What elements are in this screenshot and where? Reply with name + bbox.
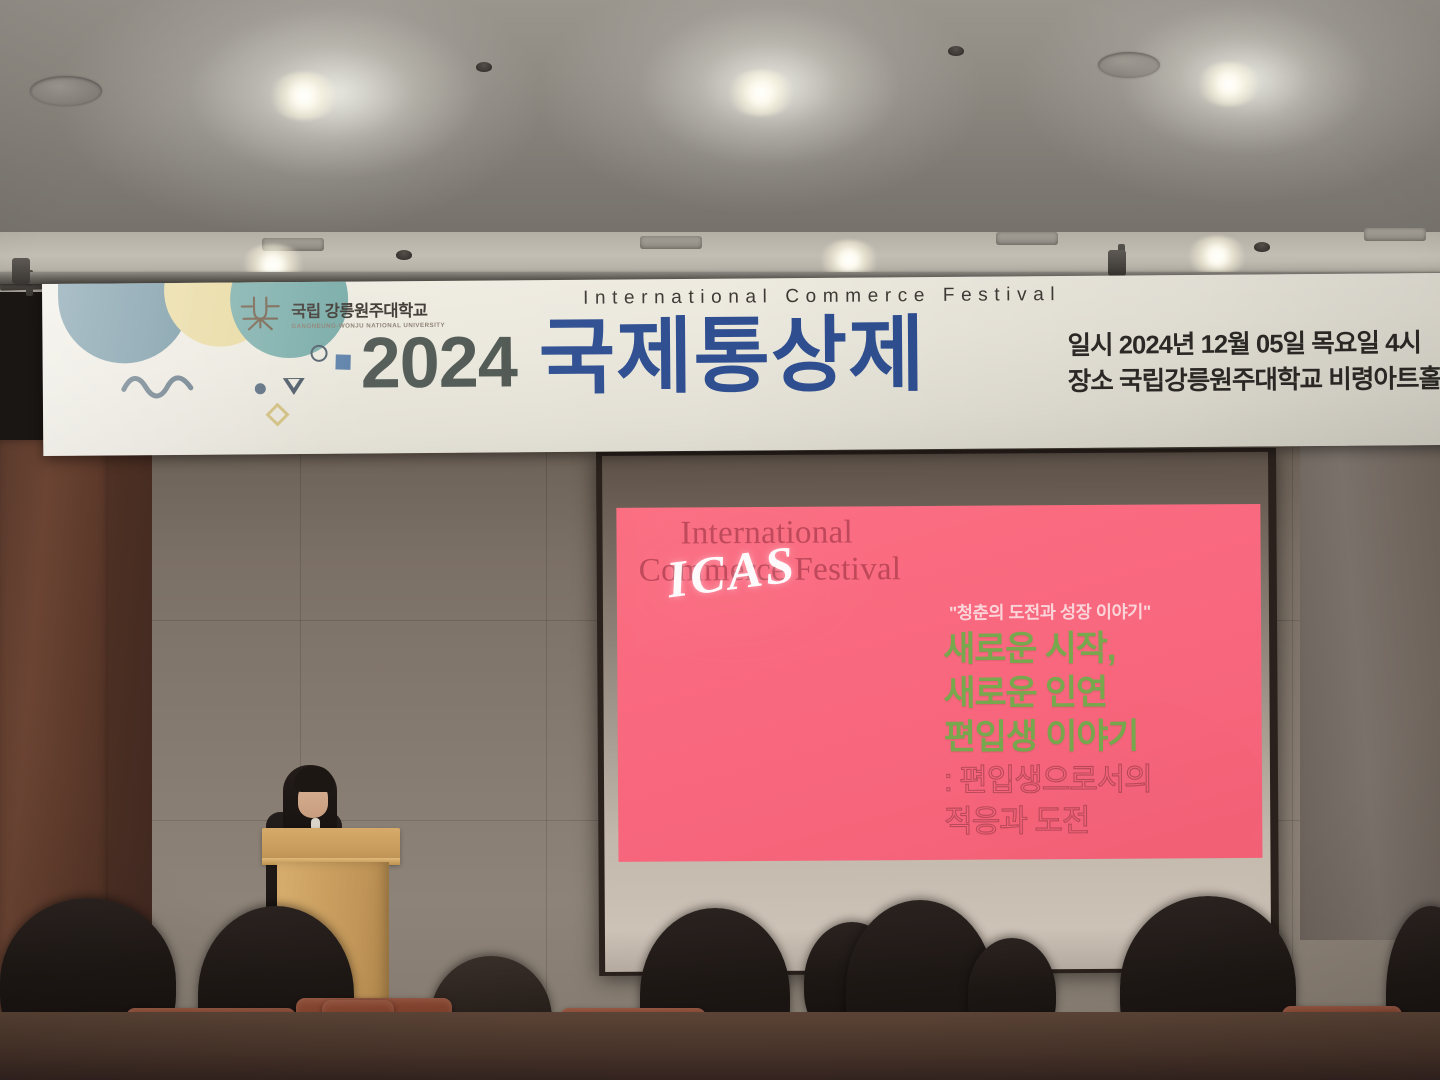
ceiling-downlight-icon xyxy=(1186,236,1248,276)
university-emblem-icon xyxy=(238,292,282,336)
air-vent-icon xyxy=(996,232,1058,245)
sprinkler-icon xyxy=(396,250,412,260)
ceiling-speaker-icon xyxy=(30,76,102,106)
wall-panel-right xyxy=(1300,440,1440,940)
banner-place-line: 장소 국립강릉원주대학교 비령아트홀 xyxy=(1068,361,1440,400)
decorative-diamond-outline xyxy=(266,403,290,427)
ceiling-downlight-icon xyxy=(268,72,340,120)
sprinkler-icon xyxy=(948,46,964,56)
slide-subtitle-1: : 편입생으로서의 xyxy=(944,760,1244,799)
air-vent-icon xyxy=(1364,228,1426,241)
auditorium-photo: 국립 강릉원주대학교 GANGNEUNG-WONJU NATIONAL UNIV… xyxy=(0,0,1440,1080)
decorative-squiggle-icon xyxy=(121,373,201,400)
banner-eyebrow: International Commerce Festival xyxy=(532,284,1112,311)
auditorium-floor xyxy=(0,1012,1440,1080)
air-vent-icon xyxy=(640,236,702,249)
slide-headline-2: 새로운 인연 xyxy=(943,672,1243,713)
rail-clamp xyxy=(1108,250,1126,276)
ceiling-downlight-icon xyxy=(1196,62,1262,106)
decorative-blue-square xyxy=(335,354,350,369)
slide-headline-3: 편입생 이야기 xyxy=(944,716,1244,757)
sprinkler-icon xyxy=(476,62,492,72)
banner-info-block: 일시 2024년 12월 05일 목요일 4시 장소 국립강릉원주대학교 비령아… xyxy=(1067,325,1440,400)
banner-title-korean: 국제통상제 xyxy=(538,313,925,399)
sprinkler-icon xyxy=(1254,242,1270,252)
projection-screen: International Commerce Festival ICAS "청춘… xyxy=(596,448,1279,976)
decorative-triangle-inner xyxy=(288,379,300,388)
slide-headline-1: 새로운 시작, xyxy=(943,628,1243,669)
ceiling-downlight-icon xyxy=(726,70,796,116)
banner-year: 2024 xyxy=(360,326,517,399)
decorative-circle-outline xyxy=(310,345,327,362)
decorative-dot xyxy=(255,383,266,394)
slide-festival-line1: International xyxy=(638,514,968,553)
rail-clamp xyxy=(12,258,30,284)
slide-text-block: "청춘의 도전과 성장 이야기" 새로운 시작, 새로운 인연 편입생 이야기 … xyxy=(943,598,1244,840)
banner-date-line: 일시 2024년 12월 05일 목요일 4시 xyxy=(1067,325,1440,364)
slide-subtitle-2: 적응과 도전 xyxy=(944,801,1244,840)
event-banner: 국립 강릉원주대학교 GANGNEUNG-WONJU NATIONAL UNIV… xyxy=(42,273,1440,456)
presentation-slide: International Commerce Festival ICAS "청춘… xyxy=(616,504,1262,862)
banner-title: 2024 국제통상제 xyxy=(360,313,926,400)
slide-quote: "청춘의 도전과 성장 이야기" xyxy=(949,598,1243,625)
